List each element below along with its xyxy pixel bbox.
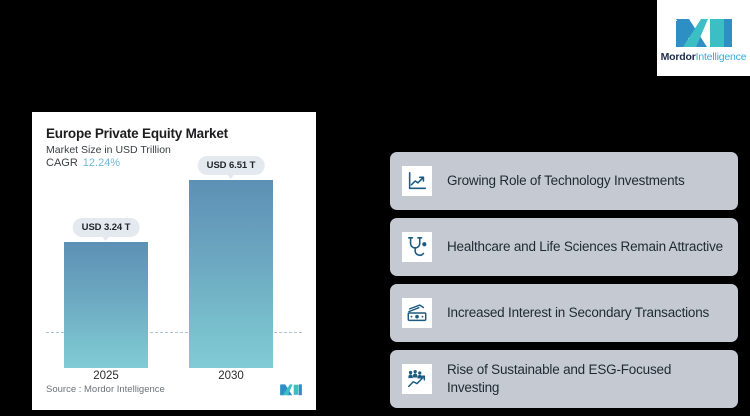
chart-subtitle: Market Size in USD Trillion	[46, 144, 302, 156]
brand-name-secondary: Intelligence	[696, 51, 747, 63]
stethoscope-icon	[402, 232, 432, 262]
bar-series: USD 3.24 T USD 6.51 T	[46, 180, 302, 368]
insight-card-secondary-transactions[interactable]: Increased Interest in Secondary Transact…	[390, 284, 738, 342]
insight-card-technology[interactable]: Growing Role of Technology Investments	[390, 152, 738, 210]
bar-value-label-2030: USD 6.51 T	[198, 156, 265, 175]
bar-2030[interactable]	[189, 180, 273, 368]
x-axis-tick-2030: 2030	[189, 370, 273, 382]
insight-card-healthcare[interactable]: Healthcare and Life Sciences Remain Attr…	[390, 218, 738, 276]
people-growth-icon	[402, 364, 432, 394]
bar-2025[interactable]	[64, 242, 148, 368]
line-chart-icon	[402, 166, 432, 196]
cagr-value: 12.24%	[83, 157, 120, 169]
chart-plot-area: USD 3.24 T USD 6.51 T 2025 2030	[46, 180, 302, 394]
brand-wordmark: MordorIntelligence	[661, 51, 747, 63]
brand-logo: MordorIntelligence	[657, 0, 750, 76]
insight-label: Growing Role of Technology Investments	[447, 172, 685, 190]
banknotes-icon	[402, 298, 432, 328]
chart-footer: Source : Mordor Intelligence	[46, 382, 304, 396]
brand-name-primary: Mordor	[661, 51, 696, 63]
source-text: Source : Mordor Intelligence	[46, 384, 165, 395]
mordor-m-logo-icon-small	[278, 382, 304, 396]
chart-title: Europe Private Equity Market	[46, 126, 302, 141]
chart-card: Europe Private Equity Market Market Size…	[32, 112, 316, 410]
insight-label: Rise of Sustainable and ESG-Focused Inve…	[447, 361, 726, 396]
insights-list: Growing Role of Technology Investments H…	[390, 152, 738, 416]
insight-label: Increased Interest in Secondary Transact…	[447, 304, 709, 322]
insight-card-esg-investing[interactable]: Rise of Sustainable and ESG-Focused Inve…	[390, 350, 738, 408]
cagr-label: CAGR	[46, 157, 78, 169]
x-axis-tick-2025: 2025	[64, 370, 148, 382]
mordor-m-logo-icon	[674, 13, 734, 49]
insight-label: Healthcare and Life Sciences Remain Attr…	[447, 238, 723, 256]
slide-canvas: MordorIntelligence Europe Private Equity…	[0, 0, 750, 416]
bar-value-label-2025: USD 3.24 T	[73, 218, 140, 237]
